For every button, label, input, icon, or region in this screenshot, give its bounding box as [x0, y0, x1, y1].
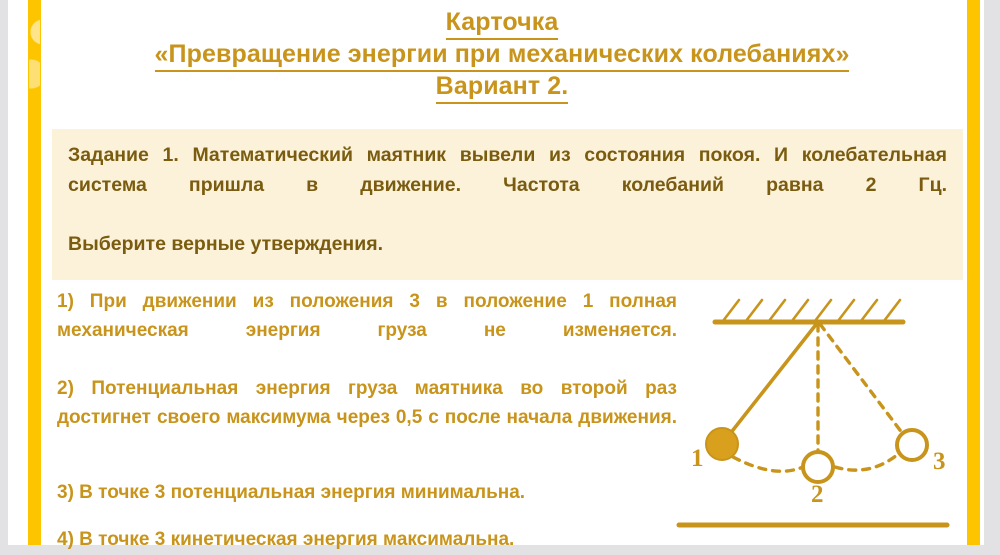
decorative-swirl-icon: [29, 2, 40, 112]
page-edge-right: [984, 0, 1000, 545]
pendulum-arc-left: [733, 457, 803, 471]
task-paragraph-2: Выберите верные утверждения.: [68, 230, 947, 260]
pendulum-bob-2: [803, 452, 833, 482]
title-line-3-text: Вариант 2.: [436, 72, 569, 104]
pendulum-label-3: 3: [933, 448, 946, 476]
pendulum-label-1: 1: [691, 445, 704, 473]
statement-item-4: 4) В точке 3 кинетическая энергия максим…: [57, 526, 677, 555]
pendulum-string-dashed-right: [820, 324, 909, 442]
pendulum-arc-right: [835, 455, 897, 470]
title-line-1-text: Карточка: [446, 8, 559, 40]
statement-item-1: 1) При движении из положения 3 в положен…: [57, 288, 677, 375]
ceiling-hatching-icon: [723, 300, 900, 321]
slide-canvas: Карточка «Превращение энергии при механи…: [8, 0, 984, 545]
pendulum-diagram: 1 2 3: [663, 285, 963, 543]
title-line-3: Вариант 2.: [52, 72, 952, 104]
decorative-bar-right: [967, 0, 980, 545]
task-panel-body: Задание 1. Математический маятник вывели…: [52, 129, 963, 260]
pendulum-bob-3: [897, 430, 927, 460]
page-edge-left: [0, 0, 8, 545]
task-panel: Задание 1. Математический маятник вывели…: [52, 129, 963, 280]
title-line-2: «Превращение энергии при механических ко…: [52, 40, 952, 72]
pendulum-label-2: 2: [811, 481, 824, 509]
statement-list: 1) При движении из положения 3 в положен…: [57, 288, 677, 555]
statement-item-3: 3) В точке 3 потенциальная энергия миним…: [57, 479, 677, 508]
pendulum-string-solid: [722, 322, 818, 444]
title-line-2-text: «Превращение энергии при механических ко…: [155, 40, 850, 72]
task-paragraph-1: Задание 1. Математический маятник вывели…: [68, 141, 947, 230]
statement-item-2: 2) Потенциальная энергия груза маятника …: [57, 375, 677, 462]
title-line-1: Карточка: [52, 8, 952, 40]
page-title: Карточка «Превращение энергии при механи…: [52, 8, 952, 104]
pendulum-bob-1: [706, 428, 738, 460]
